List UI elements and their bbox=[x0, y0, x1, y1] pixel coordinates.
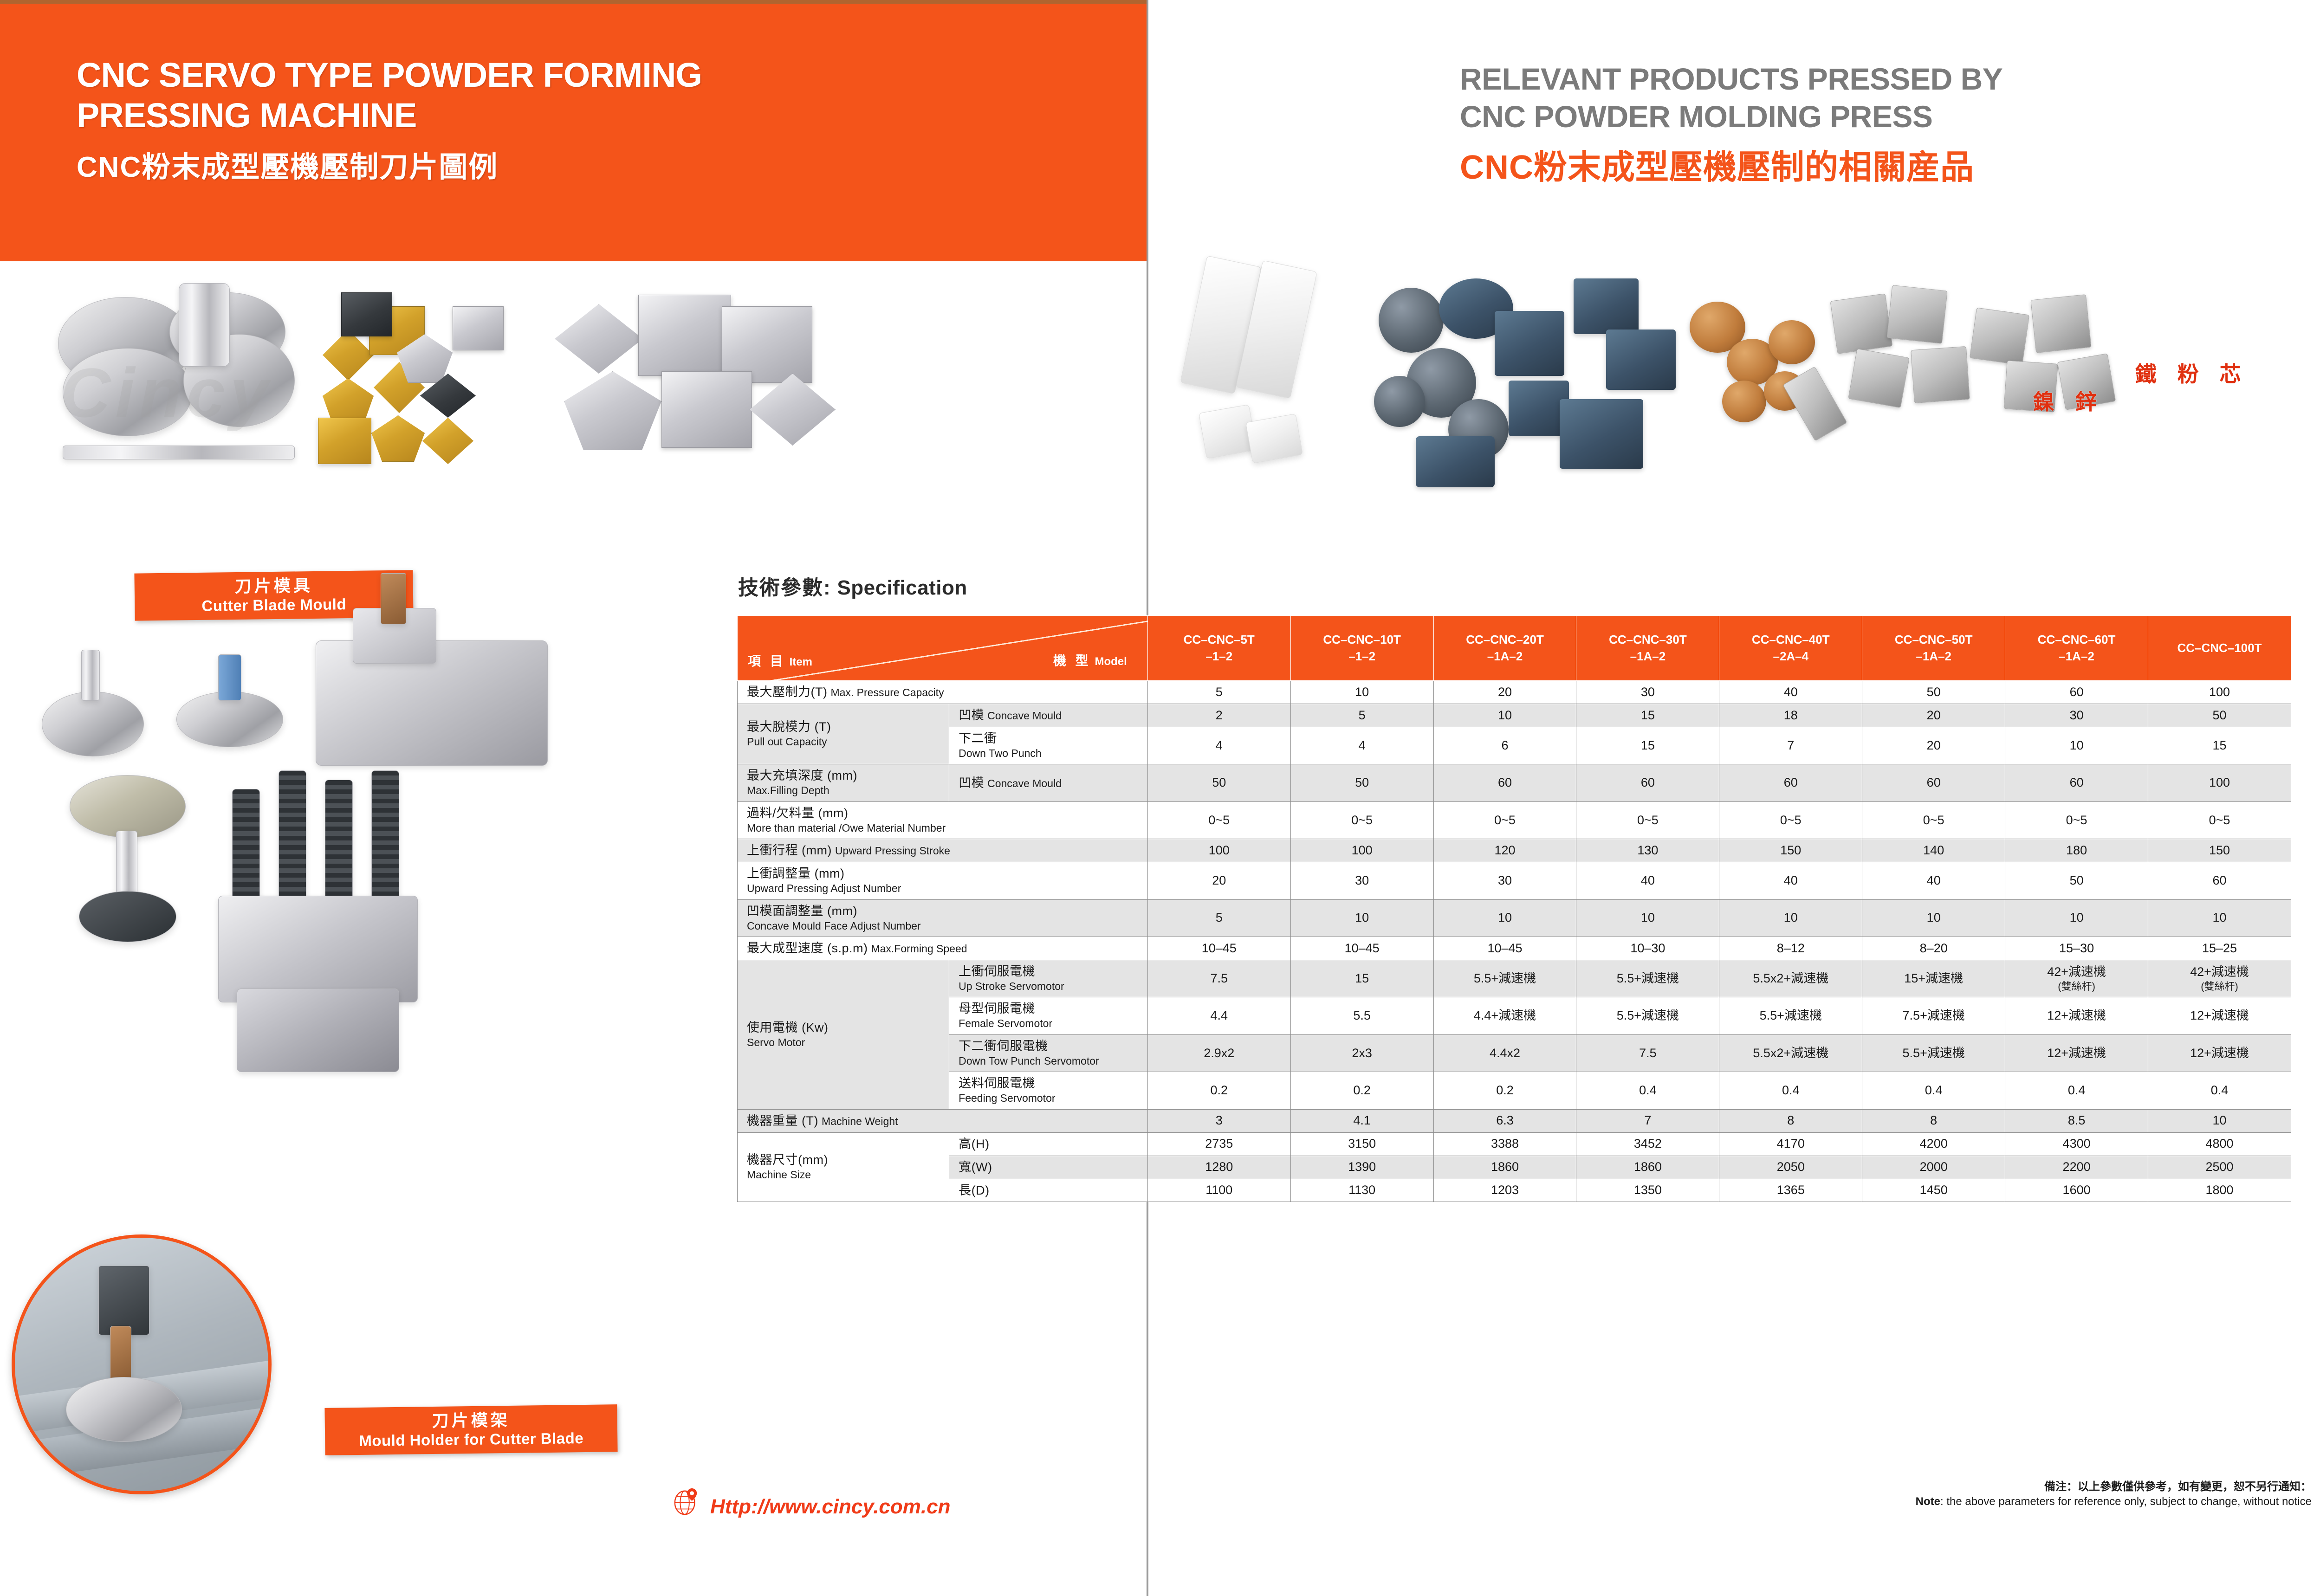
cutter-blade-photo-group bbox=[44, 278, 1126, 538]
table-cell: 20 bbox=[1862, 704, 2005, 727]
table-header-row: 機 型 Model 項 目 Item CC–CNC–5T–1–2 CC–CNC–… bbox=[738, 616, 2291, 681]
table-row: 下二衝伺服電機Down Tow Punch Servomotor2.9x22x3… bbox=[738, 1034, 2291, 1072]
table-cell: 10 bbox=[1719, 899, 1862, 937]
row-label-en: Upward Pressing Stroke bbox=[835, 845, 950, 857]
row-label: 過料/欠料量 (mm)More than material /Owe Mater… bbox=[738, 801, 1148, 839]
row-group-label: 機器尺寸(mm)Machine Size bbox=[738, 1132, 949, 1202]
table-row: 凹模面調整量 (mm)Concave Mould Face Adjust Num… bbox=[738, 899, 2291, 937]
table-row: 過料/欠料量 (mm)More than material /Owe Mater… bbox=[738, 801, 2291, 839]
col-header-5: CC–CNC–50T–1A–2 bbox=[1862, 616, 2005, 681]
product-watermark-2: 鐵 粉 芯 bbox=[2135, 357, 2249, 388]
table-cell: 0~5 bbox=[2148, 801, 2291, 839]
row-label: 凹模面調整量 (mm)Concave Mould Face Adjust Num… bbox=[738, 899, 1148, 937]
title-banner: CNC SERVO TYPE POWDER FORMING PRESSING M… bbox=[0, 4, 1147, 261]
row-label: 下二衝伺服電機Down Tow Punch Servomotor bbox=[949, 1034, 1148, 1072]
table-cell: 40 bbox=[1576, 862, 1719, 899]
table-cell: 20 bbox=[1147, 862, 1290, 899]
row-label: 長(D) bbox=[949, 1179, 1148, 1202]
row-label-cn: 凹模 bbox=[959, 708, 984, 722]
row-label-cn: 最大成型速度 (s.p.m) bbox=[747, 941, 868, 955]
row-label-en: Concave Mould bbox=[987, 710, 1062, 722]
table-cell: 5.5x2+減速機 bbox=[1719, 1034, 1862, 1072]
row-label-en: Down Tow Punch Servomotor bbox=[959, 1055, 1099, 1067]
row-label-en: Feeding Servomotor bbox=[959, 1092, 1055, 1104]
table-cell: 10 bbox=[2005, 899, 2148, 937]
row-label-cn: 高(H) bbox=[959, 1137, 989, 1151]
banner-subtitle-cn: CNC粉末成型壓機壓制刀片圖例 bbox=[77, 143, 1147, 185]
table-row: 最大脫模力 (T)Pull out Capacity凹模 Concave Mou… bbox=[738, 704, 2291, 727]
footer-note-label: Note bbox=[1916, 1495, 1940, 1508]
table-cell: 2500 bbox=[2148, 1156, 2291, 1179]
table-cell: 4200 bbox=[1862, 1132, 2005, 1156]
table-cell: 0.4 bbox=[1862, 1072, 2005, 1109]
table-cell: 1800 bbox=[2148, 1179, 2291, 1202]
table-row: 最大壓制力(T) Max. Pressure Capacity510203040… bbox=[738, 681, 2291, 704]
table-cell: 60 bbox=[1576, 764, 1719, 801]
row-label: 下二衝Down Two Punch bbox=[949, 727, 1148, 764]
table-cell: 100 bbox=[2148, 681, 2291, 704]
table-cell: 5.5+減速機 bbox=[1862, 1034, 2005, 1072]
right-header-line2: CNC POWDER MOLDING PRESS bbox=[1460, 98, 2286, 136]
banner-title-line1: CNC SERVO TYPE POWDER FORMING bbox=[77, 56, 702, 94]
table-cell: 10 bbox=[2148, 899, 2291, 937]
row-label-cn: 母型伺服電機 bbox=[959, 1002, 1035, 1015]
table-cell: 1350 bbox=[1576, 1179, 1719, 1202]
top-rule bbox=[0, 0, 1147, 4]
table-cell: 7 bbox=[1576, 1109, 1719, 1132]
banner-title: CNC SERVO TYPE POWDER FORMING PRESSING M… bbox=[77, 55, 1147, 136]
table-cell: 0.2 bbox=[1147, 1072, 1290, 1109]
table-cell: 50 bbox=[1290, 764, 1433, 801]
diagonal-rule bbox=[738, 616, 1148, 681]
table-row: 長(D)11001130120313501365145016001800 bbox=[738, 1179, 2291, 1202]
table-cell: 10 bbox=[1433, 704, 1576, 727]
table-cell: 30 bbox=[1290, 862, 1433, 899]
table-cell: 7.5 bbox=[1576, 1034, 1719, 1072]
table-cell: 8.5 bbox=[2005, 1109, 2148, 1132]
poster-page: CNC SERVO TYPE POWDER FORMING PRESSING M… bbox=[0, 0, 2320, 1596]
table-cell: 12+減速機 bbox=[2148, 1034, 2291, 1072]
table-cell: 5 bbox=[1147, 899, 1290, 937]
row-label-en: Machine Weight bbox=[822, 1115, 898, 1127]
row-group-label: 最大脫模力 (T)Pull out Capacity bbox=[738, 704, 949, 764]
table-cell: 4 bbox=[1290, 727, 1433, 764]
right-header-line3-cn: CNC粉末成型壓機壓制的相關産品 bbox=[1460, 140, 2286, 188]
table-cell: 10–45 bbox=[1147, 937, 1290, 960]
table-cell: 2000 bbox=[1862, 1156, 2005, 1179]
table-cell: 10–30 bbox=[1576, 937, 1719, 960]
table-cell: 0~5 bbox=[1433, 801, 1576, 839]
table-row: 機器重量 (T) Machine Weight34.16.37888.510 bbox=[738, 1109, 2291, 1132]
row-label-cn: 最大充填深度 (mm) bbox=[747, 769, 857, 782]
caption-mould-holder: 刀片模架 Mould Holder for Cutter Blade bbox=[324, 1404, 617, 1455]
table-cell: 10 bbox=[1290, 681, 1433, 704]
row-label: 最大成型速度 (s.p.m) Max.Forming Speed bbox=[738, 937, 1148, 960]
row-label: 凹模 Concave Mould bbox=[949, 764, 1148, 801]
table-cell: 0.2 bbox=[1433, 1072, 1576, 1109]
table-cell: 7.5+減速機 bbox=[1862, 997, 2005, 1034]
col-header-0: CC–CNC–5T–1–2 bbox=[1147, 616, 1290, 681]
header-item-en: Item bbox=[790, 656, 812, 668]
col-header-6: CC–CNC–60T–1A–2 bbox=[2005, 616, 2148, 681]
row-label-cn: 凹模面調整量 (mm) bbox=[747, 904, 857, 918]
row-label-cn: 上衝行程 (mm) bbox=[747, 843, 832, 857]
row-label-en: Concave Mould bbox=[987, 777, 1062, 789]
table-cell: 2200 bbox=[2005, 1156, 2148, 1179]
row-label-en: More than material /Owe Material Number bbox=[747, 822, 946, 834]
table-cell: 0.4 bbox=[2005, 1072, 2148, 1109]
table-row: 上衝行程 (mm) Upward Pressing Stroke10010012… bbox=[738, 839, 2291, 862]
header-item-cn: 項 目 bbox=[748, 654, 786, 668]
table-cell: 0.2 bbox=[1290, 1072, 1433, 1109]
table-row: 上衝調整量 (mm)Upward Pressing Adjust Number2… bbox=[738, 862, 2291, 899]
table-cell: 42+減速機(雙絲杆) bbox=[2148, 960, 2291, 997]
table-cell: 100 bbox=[1147, 839, 1290, 862]
table-cell: 60 bbox=[1719, 764, 1862, 801]
table-cell: 20 bbox=[1862, 727, 2005, 764]
table-cell: 8 bbox=[1862, 1109, 2005, 1132]
table-cell: 2050 bbox=[1719, 1156, 1862, 1179]
website-url[interactable]: Http://www.cincy.com.cn bbox=[710, 1495, 950, 1518]
table-cell: 7.5 bbox=[1147, 960, 1290, 997]
table-row: 下二衝Down Two Punch446157201015 bbox=[738, 727, 2291, 764]
row-label-cn: 上衝伺服電機 bbox=[959, 964, 1035, 978]
table-cell: 6 bbox=[1433, 727, 1576, 764]
row-group-label: 最大充填深度 (mm)Max.Filling Depth bbox=[738, 764, 949, 801]
table-row: 最大充填深度 (mm)Max.Filling Depth凹模 Concave M… bbox=[738, 764, 2291, 801]
table-row: 機器尺寸(mm)Machine Size高(H)2735315033883452… bbox=[738, 1132, 2291, 1156]
table-cell: 5.5+減速機 bbox=[1719, 997, 1862, 1034]
row-label: 最大壓制力(T) Max. Pressure Capacity bbox=[738, 681, 1148, 704]
table-cell: 15–25 bbox=[2148, 937, 2291, 960]
table-cell: 60 bbox=[1862, 764, 2005, 801]
footer-note-cn: 備注：以上參數僅供參考，如有變更，恕不另行通知： bbox=[1615, 1480, 2312, 1494]
row-label-en: Servo Motor bbox=[747, 1036, 805, 1048]
row-label-en: Up Stroke Servomotor bbox=[959, 980, 1064, 992]
table-cell: 0~5 bbox=[1147, 801, 1290, 839]
row-label: 寬(W) bbox=[949, 1156, 1148, 1179]
row-label-cn: 凹模 bbox=[959, 776, 984, 790]
row-label: 高(H) bbox=[949, 1132, 1148, 1156]
row-label-en: Upward Pressing Adjust Number bbox=[747, 882, 901, 894]
table-cell: 1390 bbox=[1290, 1156, 1433, 1179]
table-cell: 60 bbox=[2005, 681, 2148, 704]
row-label-en: Concave Mould Face Adjust Number bbox=[747, 920, 921, 932]
row-label-cn: 長(D) bbox=[959, 1183, 989, 1197]
spec-title: 技術參數: Specification bbox=[738, 571, 967, 601]
table-cell: 10 bbox=[2148, 1109, 2291, 1132]
header-item-model-cell: 機 型 Model 項 目 Item bbox=[738, 616, 1148, 681]
col-header-2: CC–CNC–20T–1A–2 bbox=[1433, 616, 1576, 681]
table-cell: 4300 bbox=[2005, 1132, 2148, 1156]
table-cell: 0.4 bbox=[1576, 1072, 1719, 1109]
row-label-en: Max. Pressure Capacity bbox=[830, 686, 944, 698]
table-cell: 2.9x2 bbox=[1147, 1034, 1290, 1072]
table-cell: 40 bbox=[1862, 862, 2005, 899]
table-cell: 3452 bbox=[1576, 1132, 1719, 1156]
table-body: 最大壓制力(T) Max. Pressure Capacity510203040… bbox=[738, 681, 2291, 1202]
table-cell: 4800 bbox=[2148, 1132, 2291, 1156]
table-cell: 120 bbox=[1433, 839, 1576, 862]
spec-title-cn: 技術參數: bbox=[738, 576, 831, 599]
col-header-1: CC–CNC–10T–1–2 bbox=[1290, 616, 1433, 681]
row-label: 機器重量 (T) Machine Weight bbox=[738, 1109, 1148, 1132]
table-cell: 4.1 bbox=[1290, 1109, 1433, 1132]
caption-mould-holder-cn: 刀片模架 bbox=[337, 1409, 605, 1432]
row-label-cn: 機器尺寸(mm) bbox=[747, 1153, 828, 1167]
table-cell: 5.5 bbox=[1290, 997, 1433, 1034]
table-cell: 140 bbox=[1862, 839, 2005, 862]
table-cell: 1450 bbox=[1862, 1179, 2005, 1202]
table-cell: 60 bbox=[1433, 764, 1576, 801]
table-cell: 150 bbox=[2148, 839, 2291, 862]
table-cell: 10 bbox=[1576, 899, 1719, 937]
row-label: 上衝調整量 (mm)Upward Pressing Adjust Number bbox=[738, 862, 1148, 899]
specification-table: 機 型 Model 項 目 Item CC–CNC–5T–1–2 CC–CNC–… bbox=[737, 615, 2291, 1202]
table-cell: 60 bbox=[2148, 862, 2291, 899]
table-row: 母型伺服電機Female Servomotor4.45.54.4+減速機5.5+… bbox=[738, 997, 2291, 1034]
footer-note: 備注：以上參數僅供參考，如有變更，恕不另行通知： Note: the above… bbox=[1615, 1480, 2312, 1510]
table-cell: 1130 bbox=[1290, 1179, 1433, 1202]
table-cell: 12+減速機 bbox=[2005, 997, 2148, 1034]
row-label-cn: 送料伺服電機 bbox=[959, 1076, 1035, 1090]
product-watermark-1: 鎳 鋅 bbox=[2033, 385, 2104, 416]
table-cell: 6.3 bbox=[1433, 1109, 1576, 1132]
table-cell: 3 bbox=[1147, 1109, 1290, 1132]
row-label-cn: 寬(W) bbox=[959, 1160, 992, 1174]
table-row: 最大成型速度 (s.p.m) Max.Forming Speed10–4510–… bbox=[738, 937, 2291, 960]
table-cell: 0~5 bbox=[1576, 801, 1719, 839]
table-row: 寬(W)12801390186018602050200022002500 bbox=[738, 1156, 2291, 1179]
table-cell: 10 bbox=[1433, 899, 1576, 937]
row-label-cn: 最大脫模力 (T) bbox=[747, 720, 831, 734]
table-cell: 1860 bbox=[1433, 1156, 1576, 1179]
header-item: 項 目 Item bbox=[748, 654, 812, 668]
col-header-7: CC–CNC–100T bbox=[2148, 616, 2291, 681]
table-cell: 10 bbox=[1290, 899, 1433, 937]
banner-title-line2: PRESSING MACHINE bbox=[77, 96, 416, 135]
footer-note-en: Note: the above parameters for reference… bbox=[1615, 1494, 2312, 1509]
table-cell: 10–45 bbox=[1433, 937, 1576, 960]
row-label-cn: 機器重量 (T) bbox=[747, 1114, 818, 1128]
row-label: 母型伺服電機Female Servomotor bbox=[949, 997, 1148, 1034]
row-label-en: Female Servomotor bbox=[959, 1017, 1052, 1029]
right-header: RELEVANT PRODUCTS PRESSED BY CNC POWDER … bbox=[1460, 60, 2286, 188]
table-cell: 100 bbox=[1290, 839, 1433, 862]
table-cell-sub: (雙絲杆) bbox=[2149, 980, 2290, 993]
table-cell: 2x3 bbox=[1290, 1034, 1433, 1072]
row-label-cn: 最大壓制力(T) bbox=[747, 685, 827, 699]
row-label: 上衝伺服電機Up Stroke Servomotor bbox=[949, 960, 1148, 997]
table-cell: 5.5x2+減速機 bbox=[1719, 960, 1862, 997]
table-cell: 1860 bbox=[1576, 1156, 1719, 1179]
globe-icon bbox=[672, 1487, 701, 1516]
table-cell: 30 bbox=[1576, 681, 1719, 704]
table-cell: 12+減速機 bbox=[2148, 997, 2291, 1034]
row-label-en: Down Two Punch bbox=[959, 747, 1042, 759]
row-label-cn: 過料/欠料量 (mm) bbox=[747, 806, 848, 820]
table-cell: 1280 bbox=[1147, 1156, 1290, 1179]
table-cell: 4.4+減速機 bbox=[1433, 997, 1576, 1034]
table-cell: 130 bbox=[1576, 839, 1719, 862]
table-cell: 4 bbox=[1147, 727, 1290, 764]
row-label-en: Pull out Capacity bbox=[747, 736, 827, 748]
table-cell: 1600 bbox=[2005, 1179, 2148, 1202]
table-cell: 180 bbox=[2005, 839, 2148, 862]
table-cell: 4170 bbox=[1719, 1132, 1862, 1156]
row-label: 上衝行程 (mm) Upward Pressing Stroke bbox=[738, 839, 1148, 862]
table-cell: 0~5 bbox=[1862, 801, 2005, 839]
row-label-cn: 使用電機 (Kw) bbox=[747, 1021, 829, 1034]
table-cell: 5.5+減速機 bbox=[1433, 960, 1576, 997]
table-row: 送料伺服電機Feeding Servomotor0.20.20.20.40.40… bbox=[738, 1072, 2291, 1109]
table-cell: 150 bbox=[1719, 839, 1862, 862]
table-cell: 5.5+減速機 bbox=[1576, 997, 1719, 1034]
row-label: 送料伺服電機Feeding Servomotor bbox=[949, 1072, 1148, 1109]
table-cell: 4.4 bbox=[1147, 997, 1290, 1034]
table-cell: 1365 bbox=[1719, 1179, 1862, 1202]
table-cell: 20 bbox=[1433, 681, 1576, 704]
table-cell: 3388 bbox=[1433, 1132, 1576, 1156]
col-header-3: CC–CNC–30T–1A–2 bbox=[1576, 616, 1719, 681]
table-cell: 18 bbox=[1719, 704, 1862, 727]
row-label-cn: 下二衝 bbox=[959, 731, 997, 745]
table-cell: 60 bbox=[2005, 764, 2148, 801]
circular-inset-photo bbox=[12, 1234, 272, 1494]
table-cell: 0~5 bbox=[2005, 801, 2148, 839]
table-cell: 7 bbox=[1719, 727, 1862, 764]
table-cell: 2 bbox=[1147, 704, 1290, 727]
table-cell: 5 bbox=[1290, 704, 1433, 727]
table-cell: 15 bbox=[1290, 960, 1433, 997]
product-photo-group bbox=[1188, 260, 2312, 548]
table-cell: 30 bbox=[2005, 704, 2148, 727]
table-cell: 15–30 bbox=[2005, 937, 2148, 960]
table-cell: 1100 bbox=[1147, 1179, 1290, 1202]
table-cell-sub: (雙絲杆) bbox=[2006, 980, 2147, 993]
table-cell: 8 bbox=[1719, 1109, 1862, 1132]
row-label-cn: 上衝調整量 (mm) bbox=[747, 866, 844, 880]
table-cell: 5.5+減速機 bbox=[1576, 960, 1719, 997]
table-cell: 4.4x2 bbox=[1433, 1034, 1576, 1072]
caption-mould-holder-en: Mould Holder for Cutter Blade bbox=[337, 1429, 605, 1451]
table-cell: 10 bbox=[1862, 899, 2005, 937]
right-header-line1: RELEVANT PRODUCTS PRESSED BY bbox=[1460, 60, 2286, 98]
table-cell: 42+減速機(雙絲杆) bbox=[2005, 960, 2148, 997]
table-cell: 0.4 bbox=[1719, 1072, 1862, 1109]
spec-title-en: Specification bbox=[837, 576, 967, 599]
table-cell: 0~5 bbox=[1290, 801, 1433, 839]
table-cell: 10–45 bbox=[1290, 937, 1433, 960]
table-cell: 12+減速機 bbox=[2005, 1034, 2148, 1072]
table-cell: 15 bbox=[1576, 704, 1719, 727]
table-cell: 50 bbox=[1862, 681, 2005, 704]
table-row: 使用電機 (Kw)Servo Motor上衝伺服電機Up Stroke Serv… bbox=[738, 960, 2291, 997]
row-label-en: Machine Size bbox=[747, 1169, 811, 1181]
table-cell: 5 bbox=[1147, 681, 1290, 704]
table-cell: 0~5 bbox=[1719, 801, 1862, 839]
table-cell: 40 bbox=[1719, 681, 1862, 704]
table-cell: 15 bbox=[1576, 727, 1719, 764]
table-cell: 50 bbox=[2148, 704, 2291, 727]
table-cell: 10 bbox=[2005, 727, 2148, 764]
table-cell: 8–20 bbox=[1862, 937, 2005, 960]
table-cell: 3150 bbox=[1290, 1132, 1433, 1156]
table-cell: 50 bbox=[2005, 862, 2148, 899]
col-header-4: CC–CNC–40T–2A–4 bbox=[1719, 616, 1862, 681]
table-cell: 100 bbox=[2148, 764, 2291, 801]
table-cell: 1203 bbox=[1433, 1179, 1576, 1202]
row-label-cn: 下二衝伺服電機 bbox=[959, 1039, 1048, 1053]
row-label-en: Max.Forming Speed bbox=[871, 943, 967, 955]
row-label: 凹模 Concave Mould bbox=[949, 704, 1148, 727]
table-cell: 15+減速機 bbox=[1862, 960, 2005, 997]
row-group-label: 使用電機 (Kw)Servo Motor bbox=[738, 960, 949, 1109]
table-cell: 0.4 bbox=[2148, 1072, 2291, 1109]
table-cell: 50 bbox=[1147, 764, 1290, 801]
table-cell: 15 bbox=[2148, 727, 2291, 764]
table-cell: 2735 bbox=[1147, 1132, 1290, 1156]
table-cell: 30 bbox=[1433, 862, 1576, 899]
table-cell: 40 bbox=[1719, 862, 1862, 899]
table-cell: 8–12 bbox=[1719, 937, 1862, 960]
row-label-en: Max.Filling Depth bbox=[747, 784, 829, 796]
